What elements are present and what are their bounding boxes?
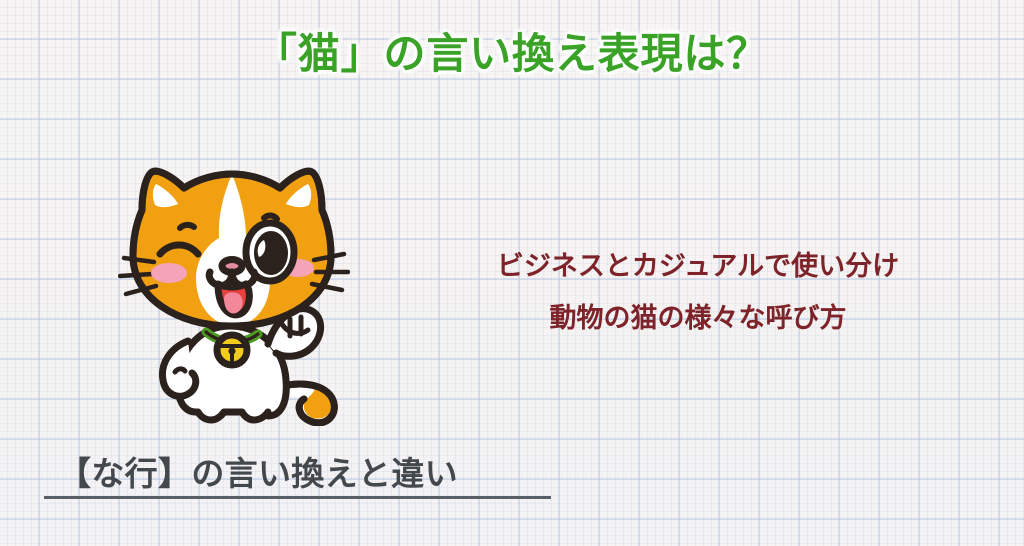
section-heading: 【な行】の言い換えと違い	[58, 447, 458, 495]
subtitle-line-2: 動物の猫の様々な呼び方	[404, 292, 992, 344]
slide-canvas: 「猫」の言い換え表現は？	[0, 0, 1024, 546]
cartoon-cat-illustration	[118, 158, 350, 426]
subtitle-block: ビジネスとカジュアルで使い分け 動物の猫の様々な呼び方	[404, 240, 992, 344]
section-heading-rule	[44, 496, 551, 499]
subtitle-line-1: ビジネスとカジュアルで使い分け	[404, 240, 992, 292]
page-title: 「猫」の言い換え表現は？	[0, 28, 1024, 79]
